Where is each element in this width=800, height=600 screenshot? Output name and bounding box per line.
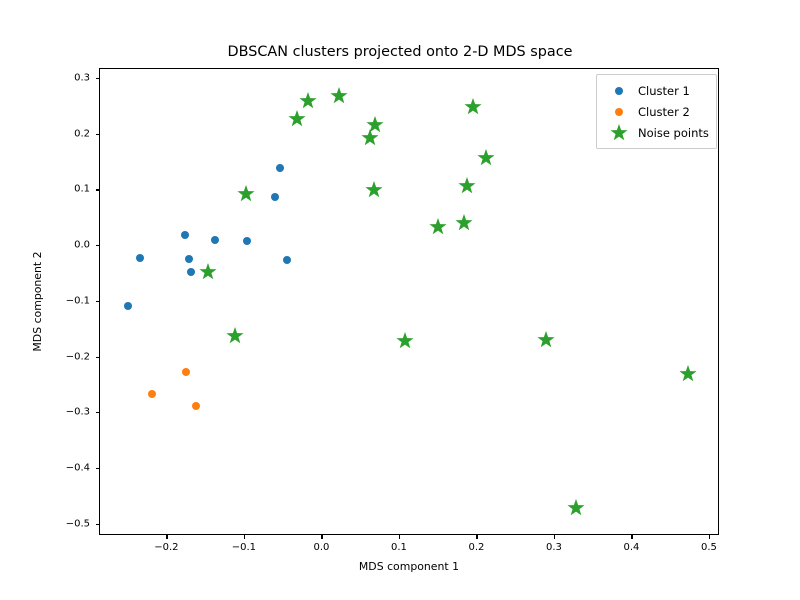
y-tick-mark (96, 189, 100, 190)
y-tick-label: 0.0 (74, 240, 90, 251)
x-axis-label: MDS component 1 (99, 560, 719, 573)
x-tick-label: 0.3 (546, 542, 562, 553)
x-tick-mark (244, 535, 245, 539)
data-point (330, 87, 348, 105)
data-point (271, 193, 279, 201)
data-point (211, 236, 219, 244)
data-point (181, 231, 189, 239)
data-point (192, 402, 200, 410)
y-axis-label: MDS component 2 (31, 68, 51, 535)
x-tick-label: −0.2 (154, 542, 178, 553)
data-point (136, 254, 144, 262)
y-tick-mark (96, 412, 100, 413)
data-point (567, 499, 585, 517)
star-marker-icon (604, 124, 634, 142)
y-tick-mark (96, 524, 100, 525)
data-point (148, 390, 156, 398)
data-point (366, 116, 384, 134)
data-point (365, 181, 383, 199)
data-point (199, 263, 217, 281)
data-point (124, 302, 132, 310)
x-tick-label: 0.2 (468, 542, 484, 553)
x-tick-mark (554, 535, 555, 539)
legend-item-label: Noise points (634, 126, 709, 140)
x-tick-label: −0.1 (232, 542, 256, 553)
y-tick-mark (96, 301, 100, 302)
y-tick-label: 0.2 (74, 128, 90, 139)
y-tick-label: −0.3 (66, 407, 90, 418)
data-point (226, 327, 244, 345)
y-tick-label: 0.1 (74, 184, 90, 195)
y-tick-label: −0.5 (66, 518, 90, 529)
data-point (243, 237, 251, 245)
data-point (537, 331, 555, 349)
y-tick-label: 0.3 (74, 73, 90, 84)
data-point (187, 268, 195, 276)
x-tick-label: 0.5 (701, 542, 717, 553)
x-tick-label: 0.1 (391, 542, 407, 553)
x-tick-label: 0.0 (313, 542, 329, 553)
circle-marker-icon (604, 87, 634, 95)
y-tick-mark (96, 134, 100, 135)
legend-item-label: Cluster 1 (634, 84, 690, 98)
y-tick-mark (96, 245, 100, 246)
y-tick-label: −0.4 (66, 463, 90, 474)
x-tick-mark (631, 535, 632, 539)
x-tick-mark (476, 535, 477, 539)
x-tick-mark (166, 535, 167, 539)
data-point (283, 256, 291, 264)
y-tick-mark (96, 357, 100, 358)
data-point (288, 110, 306, 128)
legend-item-label: Cluster 2 (634, 105, 690, 119)
legend-item-2[interactable]: Cluster 2 (604, 101, 709, 122)
legend-box: Cluster 1Cluster 2Noise points (596, 74, 717, 149)
y-tick-label: −0.2 (66, 351, 90, 362)
data-point (458, 177, 476, 195)
data-point (429, 218, 447, 236)
data-point (299, 92, 317, 110)
y-tick-mark (96, 468, 100, 469)
page-title: DBSCAN clusters projected onto 2-D MDS s… (0, 44, 800, 60)
legend-item-3[interactable]: Noise points (604, 122, 709, 143)
data-point (455, 214, 473, 232)
x-tick-mark (399, 535, 400, 539)
y-tick-label: −0.1 (66, 295, 90, 306)
x-tick-mark (321, 535, 322, 539)
data-point (276, 164, 284, 172)
data-point (477, 149, 495, 167)
data-point (185, 255, 193, 263)
data-point (182, 368, 190, 376)
circle-marker-icon (604, 108, 634, 116)
x-tick-label: 0.4 (623, 542, 639, 553)
matplotlib-figure: DBSCAN clusters projected onto 2-D MDS s… (0, 0, 800, 600)
data-point (464, 98, 482, 116)
data-point (396, 332, 414, 350)
data-point (237, 185, 255, 203)
legend-item-1[interactable]: Cluster 1 (604, 80, 709, 101)
x-tick-mark (709, 535, 710, 539)
data-point (679, 365, 697, 383)
y-tick-mark (96, 78, 100, 79)
